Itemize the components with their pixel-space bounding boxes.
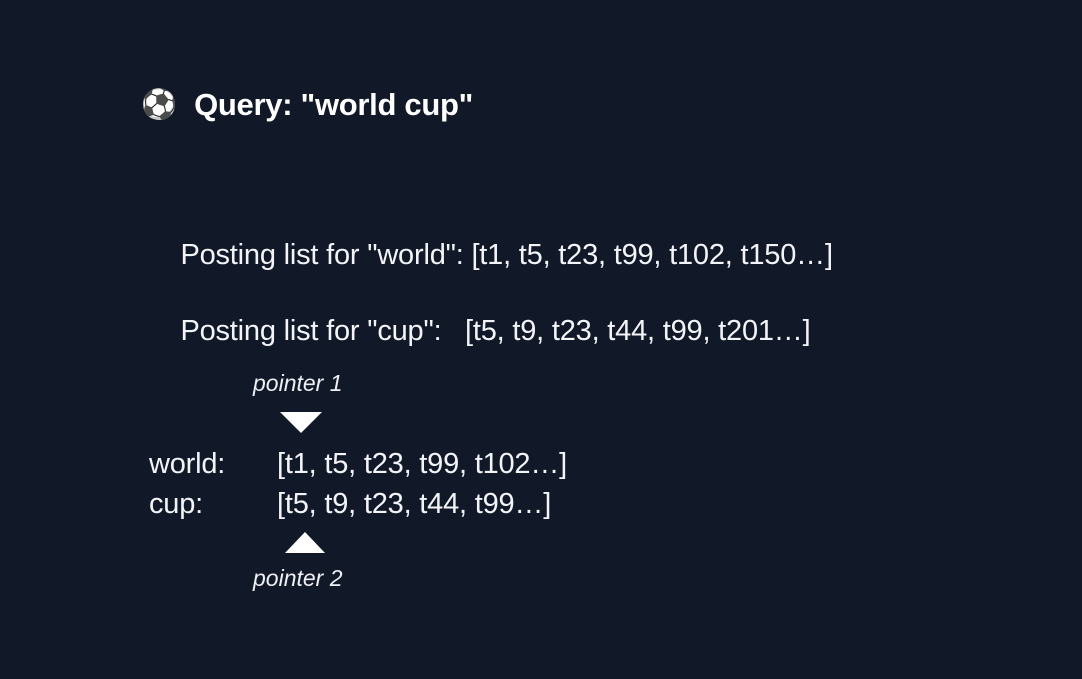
merge-row-cup: cup:[t5, t9, t23, t44, t99…] [149, 484, 567, 524]
posting-list-label-world: Posting list for "world": [180, 239, 463, 271]
triangle-up-icon [285, 532, 325, 553]
merge-rows: world:[t1, t5, t23, t99, t102…] cup:[t5,… [149, 444, 567, 524]
posting-list-values-cup: [t5, t9, t23, t44, t99, t201…] [465, 315, 810, 347]
pointer-1-label: pointer 1 [253, 370, 343, 397]
merge-list-world: [t1, t5, t23, t99, t102…] [277, 444, 567, 484]
triangle-down-icon [280, 412, 322, 433]
slide-canvas: ⚽ Query: "world cup" Posting list for "w… [0, 0, 1082, 679]
posting-list-values-world: [t1, t5, t23, t99, t102, t150…] [471, 239, 832, 271]
posting-list-line-cup: Posting list for "cup": [t5, t9, t23, t4… [149, 279, 810, 383]
query-title-text: Query: "world cup" [194, 88, 473, 122]
merge-row-world: world:[t1, t5, t23, t99, t102…] [149, 444, 567, 484]
merge-list-cup: [t5, t9, t23, t44, t99…] [277, 484, 551, 524]
page-title: ⚽ Query: "world cup" [141, 88, 473, 122]
soccer-ball-icon: ⚽ [141, 91, 177, 120]
merge-term-cup: cup: [149, 484, 277, 524]
posting-list-label-cup: Posting list for "cup": [180, 315, 441, 347]
merge-term-world: world: [149, 444, 277, 484]
pointer-2-label: pointer 2 [253, 565, 343, 592]
